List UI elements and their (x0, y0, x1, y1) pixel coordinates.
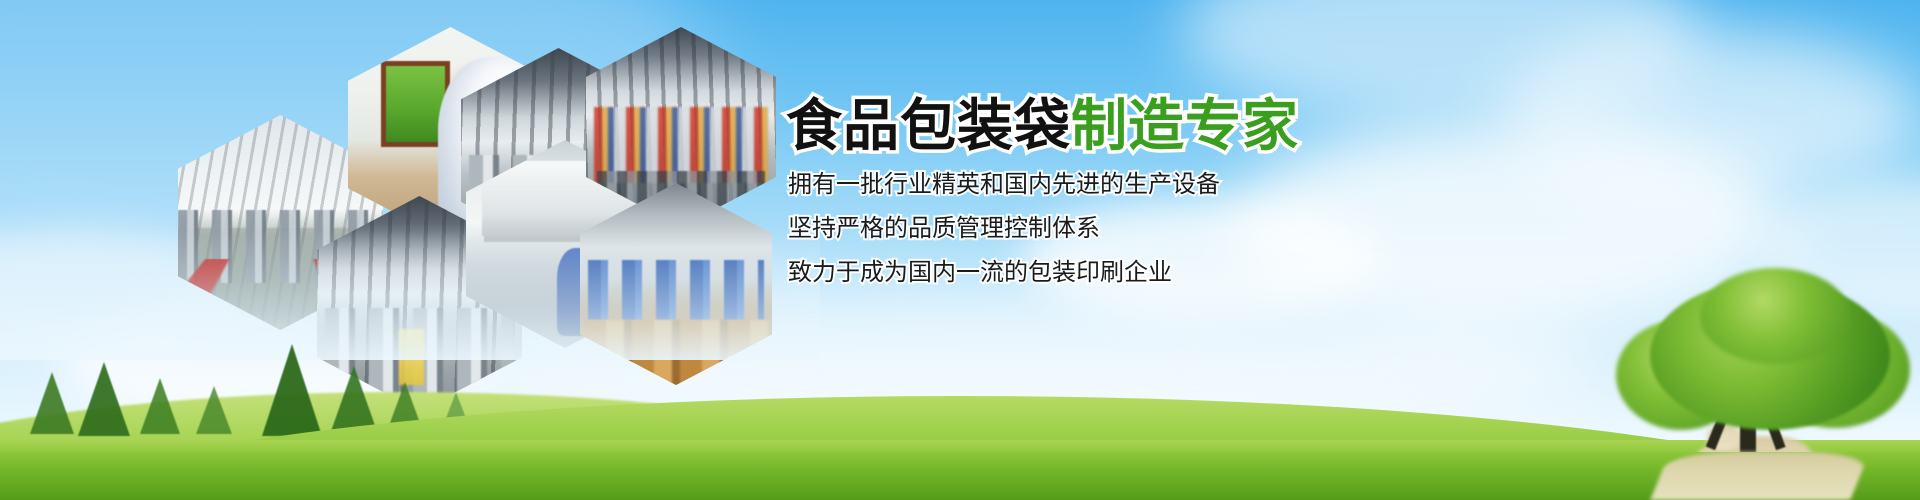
subtitle-line-1: 拥有一批行业精英和国内先进的生产设备 (788, 172, 1220, 196)
hexagon-photo-collage (0, 0, 820, 360)
cloud-upper-right (1500, 30, 1920, 200)
hero-banner: 食品包装袋制造专家 拥有一批行业精英和国内先进的生产设备 坚持严格的品质管理控制… (0, 0, 1920, 500)
pine-tree-4 (262, 344, 322, 436)
pine-tree-1 (30, 372, 74, 434)
pine-tree-3 (140, 378, 180, 434)
subtitle-line-2: 坚持严格的品质管理控制体系 (788, 216, 1220, 240)
pine-tree-2 (78, 362, 130, 436)
headline-primary: 食品包装袋 (786, 99, 1071, 155)
subtitle-line-3: 致力于成为国内一流的包装印刷企业 (788, 260, 1220, 284)
grass-foreground (0, 452, 1920, 500)
page-title: 食品包装袋制造专家 (786, 99, 1299, 155)
big-tree-canopy-top (1700, 268, 1850, 364)
subtitle-list: 拥有一批行业精英和国内先进的生产设备 坚持严格的品质管理控制体系 致力于成为国内… (788, 172, 1220, 304)
dirt-path-foreground (1650, 452, 1869, 500)
headline-accent: 制造专家 (1071, 99, 1299, 155)
pine-tree-6 (196, 386, 232, 434)
